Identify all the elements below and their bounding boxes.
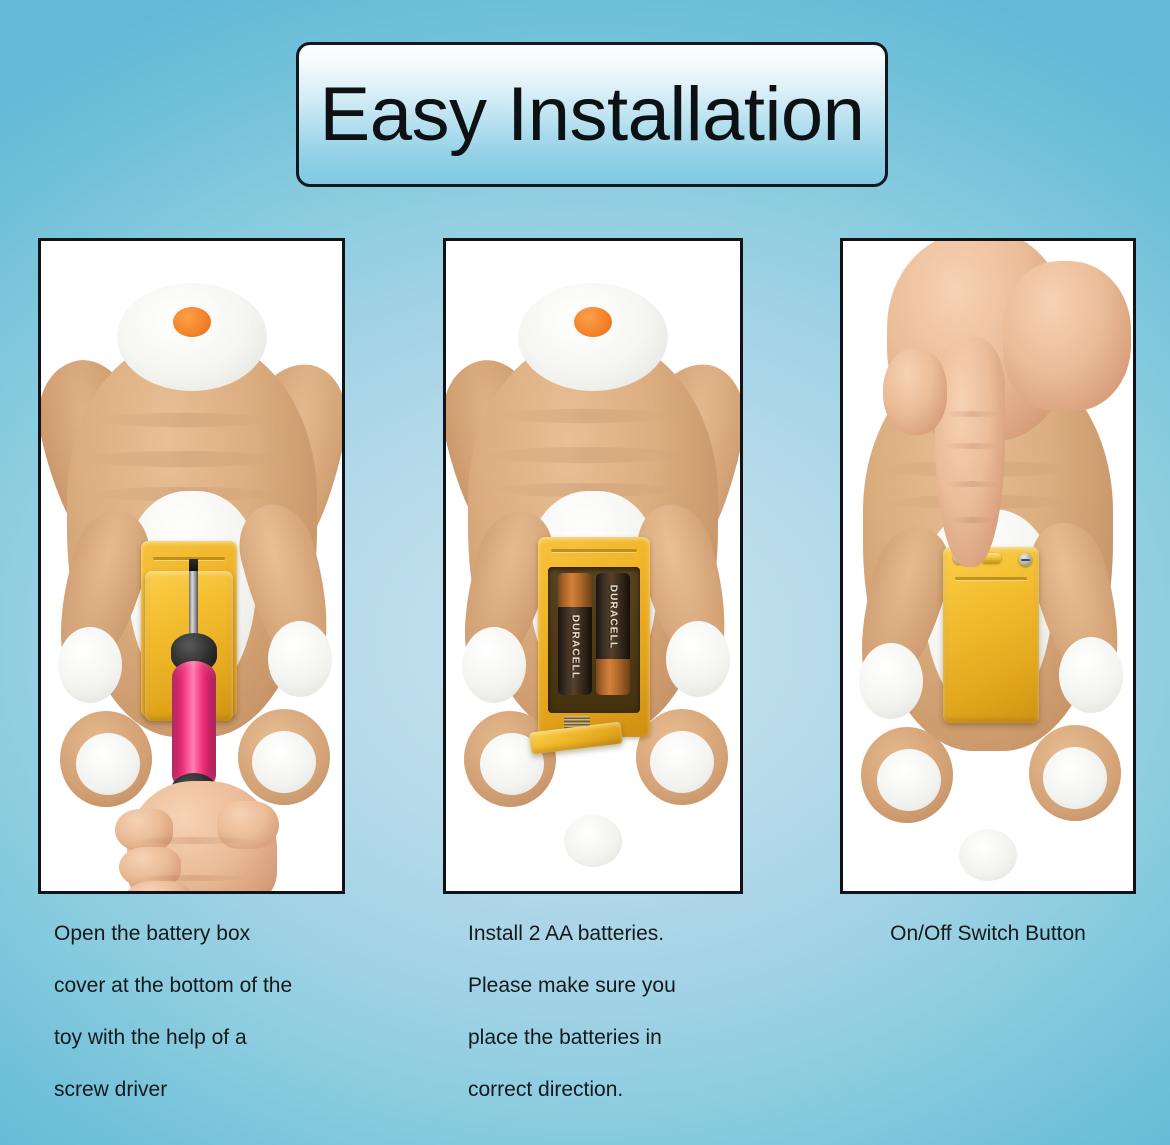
battery-brand-text: DURACELL <box>608 585 619 650</box>
photo-install-batteries: DURACELL DURACELL <box>446 241 740 891</box>
step-panel-3 <box>840 238 1136 894</box>
toy-paw-left <box>58 627 122 703</box>
battery-cell-2: DURACELL <box>596 573 630 695</box>
finger-crease <box>947 517 997 523</box>
toy-nose <box>574 307 612 337</box>
toy-paw-right <box>268 621 332 697</box>
caption-step-3: On/Off Switch Button <box>840 908 1136 960</box>
toy-tail <box>959 829 1017 881</box>
step-panel-2: DURACELL DURACELL <box>443 238 743 894</box>
toy-paw-right <box>1059 637 1123 713</box>
finger-crease <box>943 443 1001 449</box>
hand-crease <box>133 837 253 844</box>
toy-foot-pad-right <box>650 731 714 793</box>
page-title: Easy Installation <box>320 77 865 153</box>
step-panel-1 <box>38 238 345 894</box>
caption-step-1: Open the battery box cover at the bottom… <box>54 908 384 1116</box>
toy-nose <box>173 307 211 337</box>
toy-head <box>117 283 267 391</box>
photo-on-off-switch <box>843 241 1133 891</box>
steps-row: DURACELL DURACELL <box>0 238 1170 894</box>
finger-crease <box>945 481 999 487</box>
caption-step-2: Install 2 AA batteries. Please make sure… <box>468 908 768 1116</box>
fur-streak <box>496 409 668 423</box>
hand-crease <box>137 875 249 881</box>
finger <box>115 809 173 851</box>
infographic-page: Easy Installation <box>0 0 1170 1145</box>
toy-foot-pad-right <box>1043 747 1107 809</box>
toy-paw-left <box>859 643 923 719</box>
battery-brand-text: DURACELL <box>570 615 581 680</box>
index-finger <box>935 337 1005 567</box>
thumb <box>883 349 947 435</box>
battery-well: DURACELL DURACELL <box>548 567 640 713</box>
toy-paw-right <box>666 621 730 697</box>
fur-streak <box>82 451 282 467</box>
fur-streak <box>94 413 270 427</box>
photo-open-cover <box>41 241 342 891</box>
battery-cover-closed <box>943 547 1039 723</box>
lid-groove <box>551 549 636 552</box>
lid-groove <box>955 577 1028 580</box>
toy-paw-left <box>462 627 526 703</box>
battery-compartment-open: DURACELL DURACELL <box>538 537 650 737</box>
screwdriver-shaft <box>189 571 198 639</box>
cover-screw-right <box>1019 553 1032 566</box>
toy-foot-pad-left <box>877 749 941 811</box>
title-banner: Easy Installation <box>296 42 888 187</box>
fur-streak <box>486 447 682 463</box>
knuckles <box>1003 261 1131 411</box>
toy-foot-pad-left <box>76 733 140 795</box>
toy-head <box>518 283 668 391</box>
battery-cell-1: DURACELL <box>558 573 592 695</box>
finger-crease <box>943 411 1001 417</box>
toy-tail <box>564 815 622 867</box>
toy-foot-pad-right <box>252 731 316 793</box>
screwdriver-grip <box>172 661 216 791</box>
